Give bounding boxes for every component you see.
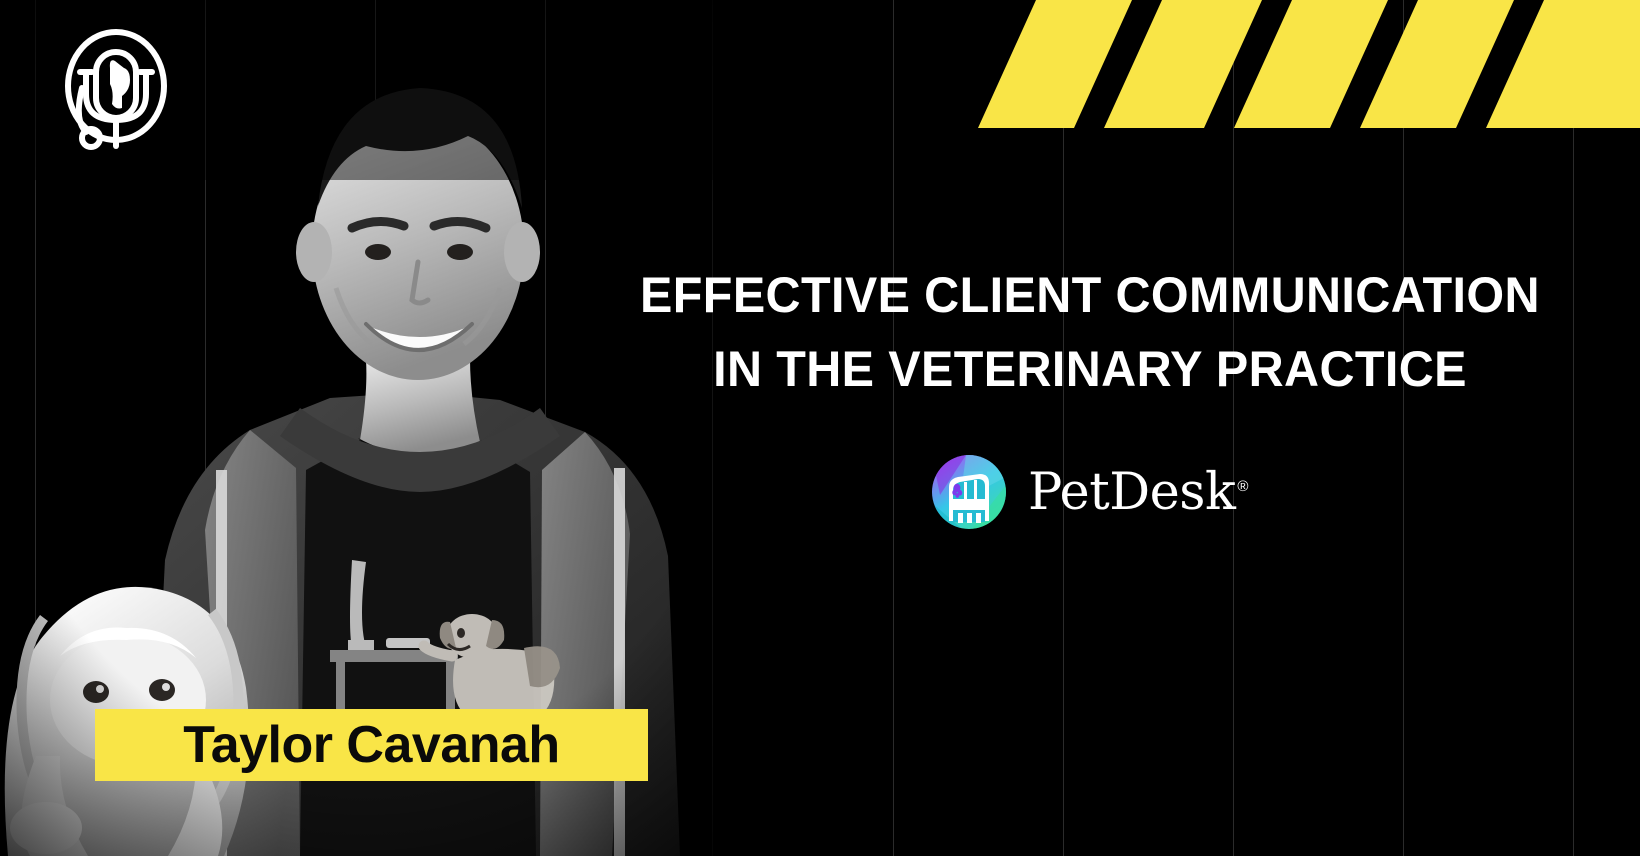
title-line-2: IN THE VETERINARY PRACTICE [576, 332, 1604, 406]
petdesk-wordmark-text: PetDesk [1028, 463, 1235, 522]
diagonal-stripes-decoration [940, 0, 1640, 128]
petdesk-wordmark: PetDesk® [1028, 467, 1248, 518]
presentation-title: EFFECTIVE CLIENT COMMUNICATION IN THE VE… [560, 258, 1620, 406]
speaker-name-banner: Taylor Cavanah [95, 709, 648, 781]
petdesk-app-icon [932, 455, 1006, 529]
veterinary-podcast-mic-icon [52, 28, 180, 156]
title-line-1: EFFECTIVE CLIENT COMMUNICATION [576, 258, 1604, 332]
speaker-name: Taylor Cavanah [183, 719, 559, 771]
registered-trademark-icon: ® [1237, 478, 1248, 495]
petdesk-logo-lockup: PetDesk® [560, 455, 1620, 529]
slide-canvas: EFFECTIVE CLIENT COMMUNICATION IN THE VE… [0, 0, 1640, 856]
